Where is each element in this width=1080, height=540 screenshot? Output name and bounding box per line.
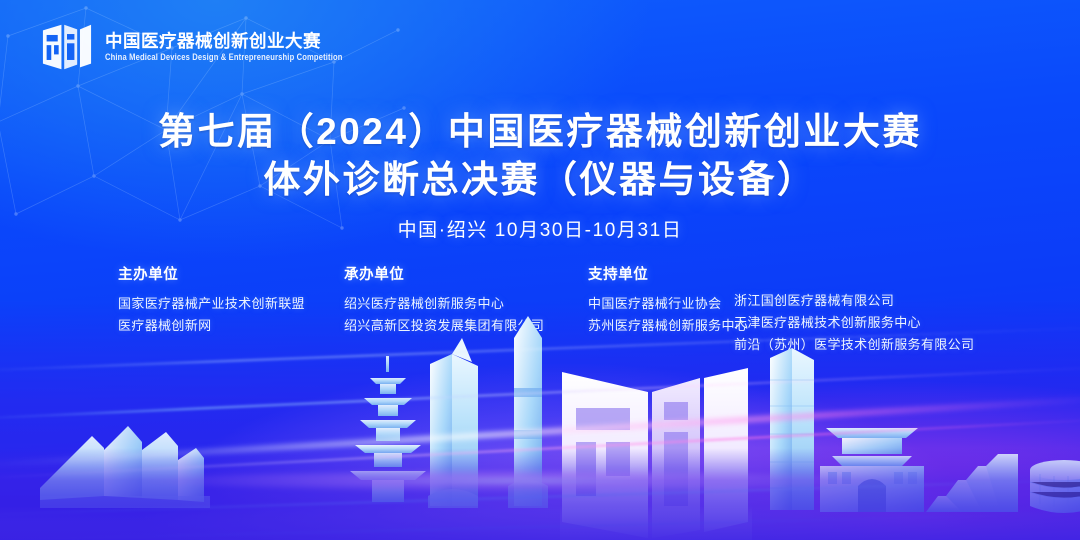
column-heading: 支持单位 <box>588 266 748 284</box>
brand-name-en: China Medical Devices Design & Entrepren… <box>105 53 343 62</box>
column-heading: 主办单位 <box>118 266 305 284</box>
brand-logo: 中国医疗器械创新创业大赛 China Medical Devices Desig… <box>40 22 343 72</box>
hero-titles: 第七届（2024）中国医疗器械创新创业大赛 体外诊断总决赛（仪器与设备） 中国·… <box>0 108 1080 244</box>
competition-logo-icon <box>40 22 94 72</box>
brand-name-cn: 中国医疗器械创新创业大赛 <box>105 33 343 51</box>
event-location-date: 中国·绍兴 10月30日-10月31日 <box>0 218 1080 244</box>
page-title-line1: 第七届（2024）中国医疗器械创新创业大赛 <box>0 108 1080 156</box>
page-title-line2: 体外诊断总决赛（仪器与设备） <box>0 156 1080 204</box>
banner-poster: 中国医疗器械创新创业大赛 China Medical Devices Desig… <box>0 0 1080 540</box>
column-heading: 承办单位 <box>344 266 544 284</box>
foreground-ground <box>0 448 1080 540</box>
organizer-item: 浙江国创医疗器械有限公司 <box>734 290 974 312</box>
